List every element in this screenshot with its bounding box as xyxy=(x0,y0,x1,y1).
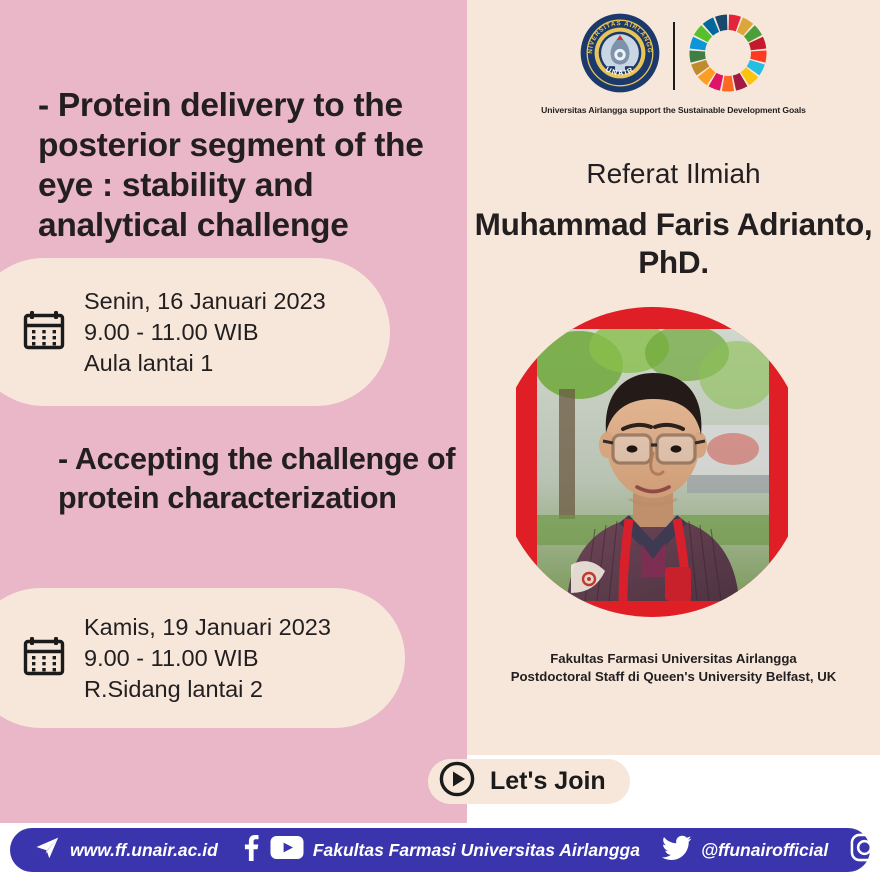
lets-join-button[interactable]: Let's Join xyxy=(428,759,630,804)
session-2-card: Kamis, 19 Januari 2023 9.00 - 11.00 WIB … xyxy=(0,588,405,728)
sdg-wheel-icon xyxy=(687,12,769,99)
page-name-text: Fakultas Farmasi Universitas Airlangga xyxy=(313,840,640,861)
telegram-icon xyxy=(34,834,61,866)
logo-divider xyxy=(673,22,675,90)
calendar-icon xyxy=(22,308,66,357)
session-2-details: Kamis, 19 Januari 2023 9.00 - 11.00 WIB … xyxy=(84,612,331,705)
speaker-affiliation: Fakultas Farmasi Universitas Airlangga P… xyxy=(467,650,880,685)
instagram-link[interactable]: @ff.unair xyxy=(850,833,880,867)
talk-title-2: - Accepting the challenge of protein cha… xyxy=(58,440,458,518)
unair-seal-icon: UNIVERSITAS AIRLANGGA UNAIR xyxy=(579,12,661,99)
speaker-photo xyxy=(487,297,817,627)
logo-row: UNIVERSITAS AIRLANGGA UNAIR xyxy=(579,12,769,99)
youtube-icon xyxy=(270,835,304,865)
logo-caption: Universitas Airlangga support the Sustai… xyxy=(541,105,806,115)
play-circle-icon xyxy=(438,760,476,803)
talk-title-1: - Protein delivery to the posterior segm… xyxy=(38,86,458,246)
photo-circle-mask xyxy=(497,307,807,617)
twitter-link[interactable]: @ffunairofficial xyxy=(662,835,828,866)
facebook-icon xyxy=(240,835,262,866)
website-link[interactable]: www.ff.unair.ac.id xyxy=(34,834,218,866)
website-text: www.ff.unair.ac.id xyxy=(70,840,218,861)
poster-root: - Protein delivery to the posterior segm… xyxy=(0,0,880,880)
youtube-link[interactable]: Fakultas Farmasi Universitas Airlangga xyxy=(270,835,640,865)
logo-header: UNIVERSITAS AIRLANGGA UNAIR Universitas … xyxy=(467,12,880,115)
twitter-handle-text: @ffunairofficial xyxy=(701,840,828,861)
instagram-icon xyxy=(850,833,879,867)
event-label: Referat Ilmiah xyxy=(467,158,880,190)
facebook-link[interactable] xyxy=(240,835,262,866)
speaker-name: Muhammad Faris Adrianto, PhD. xyxy=(467,205,880,281)
session-1-details: Senin, 16 Januari 2023 9.00 - 11.00 WIB … xyxy=(84,286,326,379)
twitter-icon xyxy=(662,835,692,866)
portrait-image xyxy=(537,329,769,601)
session-1-card: Senin, 16 Januari 2023 9.00 - 11.00 WIB … xyxy=(0,258,390,406)
calendar-icon xyxy=(22,634,66,683)
footer-bar: www.ff.unair.ac.id Fakultas Farmasi Univ… xyxy=(10,828,870,872)
lets-join-label: Let's Join xyxy=(490,767,606,796)
